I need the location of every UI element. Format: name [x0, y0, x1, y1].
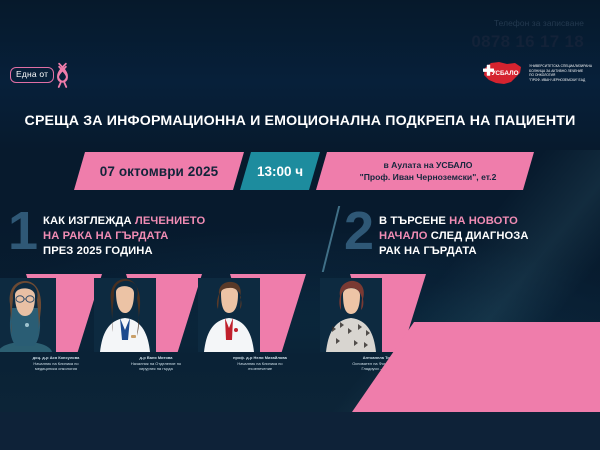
hospital-logo-line-3: ПО ОНКОЛОГИЯ — [529, 73, 592, 77]
foundation-logo-text: Една от — [10, 67, 54, 83]
program-1-l3-a: ПРЕЗ 2025 ГОДИНА — [43, 245, 153, 257]
event-venue-line-2: "Проф. Иван Черноземски", ет.2 — [360, 172, 497, 183]
program-1-l1-a: КАК ИЗГЛЕЖДА — [43, 215, 135, 227]
program-1-l1-b: ЛЕЧЕНИЕТО — [135, 215, 205, 227]
poster-title: СРЕЩА ЗА ИНФОРМАЦИОННА И ЕМОЦИОНАЛНА ПОД… — [0, 113, 600, 129]
speaker-4-photo — [320, 278, 382, 352]
program-item-1: 1 КАК ИЗГЛЕЖДА ЛЕЧЕНИЕТО НА РАКА НА ГЪРД… — [8, 206, 205, 258]
bottom-strip — [0, 412, 600, 450]
pink-ribbon-icon — [55, 62, 70, 88]
speaker-3-role-2: лъчелечение — [196, 366, 324, 372]
event-poster: Една от УСБАЛО УНИВЕРСИТЕТСКА СПЕЦИАЛИЗИ… — [0, 0, 600, 450]
speaker-card-3: проф. д-р Нели Михайлова Началник на Кли… — [196, 272, 324, 392]
program-text-2: В ТЪРСЕНЕ НА НОВОТО НАЧАЛО СЛЕД ДИАГНОЗА… — [379, 206, 529, 258]
contact-phone-number[interactable]: 0878 16 17 18 — [471, 32, 584, 52]
program-item-2: 2 В ТЪРСЕНЕ НА НОВОТО НАЧАЛО СЛЕД ДИАГНО… — [344, 206, 529, 258]
speaker-3-caption: проф. д-р Нели Михайлова Началник на Кли… — [196, 355, 324, 372]
hospital-logo-text: УНИВЕРСИТЕТСКА СПЕЦИАЛИЗИРАНА БОЛНИЦА ЗА… — [529, 64, 592, 82]
program-2-l1-a: В ТЪРСЕНЕ — [379, 215, 449, 227]
speaker-3-photo — [198, 278, 260, 352]
program-1-l2-a: НА РАКА НА ГЪРДАТА — [43, 230, 168, 242]
hospital-logo-line-2: БОЛНИЦА ЗА АКТИВНО ЛЕЧЕНИЕ — [529, 69, 592, 73]
program-2-l3-a: РАК НА ГЪРДАТА — [379, 245, 477, 257]
program-2-l1-b: НА НОВОТО — [449, 215, 518, 227]
program-2-line-1: В ТЪРСЕНЕ НА НОВОТО — [379, 214, 529, 229]
event-time-badge: 13:00 ч — [240, 152, 320, 190]
hospital-logo-line-1: УНИВЕРСИТЕТСКА СПЕЦИАЛИЗИРАНА — [529, 64, 592, 68]
event-venue-line-1: в Аулата на УСБАЛО — [384, 160, 473, 171]
program-number-2: 2 — [344, 208, 373, 254]
program-1-line-2: НА РАКА НА ГЪРДАТА — [43, 229, 205, 244]
event-date-badge: 07 октомври 2025 — [74, 152, 244, 190]
program-2-line-3: РАК НА ГЪРДАТА — [379, 244, 529, 259]
speaker-1-photo — [0, 278, 56, 352]
contact-text: Телефон за записване 0878 16 17 18 — [471, 18, 584, 52]
program-text-1: КАК ИЗГЛЕЖДА ЛЕЧЕНИЕТО НА РАКА НА ГЪРДАТ… — [43, 206, 205, 258]
program-number-1: 1 — [8, 208, 37, 254]
speaker-2-photo — [94, 278, 156, 352]
hospital-logo: УСБАЛО УНИВЕРСИТЕТСКА СПЕЦИАЛИЗИРАНА БОЛ… — [479, 58, 592, 88]
event-venue-badge: в Аулата на УСБАЛО "Проф. Иван Черноземс… — [316, 152, 534, 190]
program-1-line-1: КАК ИЗГЛЕЖДА ЛЕЧЕНИЕТО — [43, 214, 205, 229]
svg-text:УСБАЛО: УСБАЛО — [492, 70, 519, 77]
program-2-l2-b: СЛЕД ДИАГНОЗА — [431, 230, 529, 242]
program-1-line-3: ПРЕЗ 2025 ГОДИНА — [43, 244, 205, 259]
event-info-bars: 07 октомври 2025 13:00 ч в Аулата на УСБ… — [0, 152, 600, 194]
program-2-line-2: НАЧАЛО СЛЕД ДИАГНОЗА — [379, 229, 529, 244]
bulgaria-map-icon: УСБАЛО — [479, 58, 525, 88]
program-sections: 1 КАК ИЗГЛЕЖДА ЛЕЧЕНИЕТО НА РАКА НА ГЪРД… — [0, 206, 600, 272]
hospital-logo-line-4: "ПРОФ. ИВАН ЧЕРНОЗЕМСКИ" ЕАД — [529, 78, 592, 82]
foundation-logo: Една от — [10, 62, 70, 88]
program-2-l2-a: НАЧАЛО — [379, 230, 431, 242]
contact-label: Телефон за записване — [471, 18, 584, 29]
